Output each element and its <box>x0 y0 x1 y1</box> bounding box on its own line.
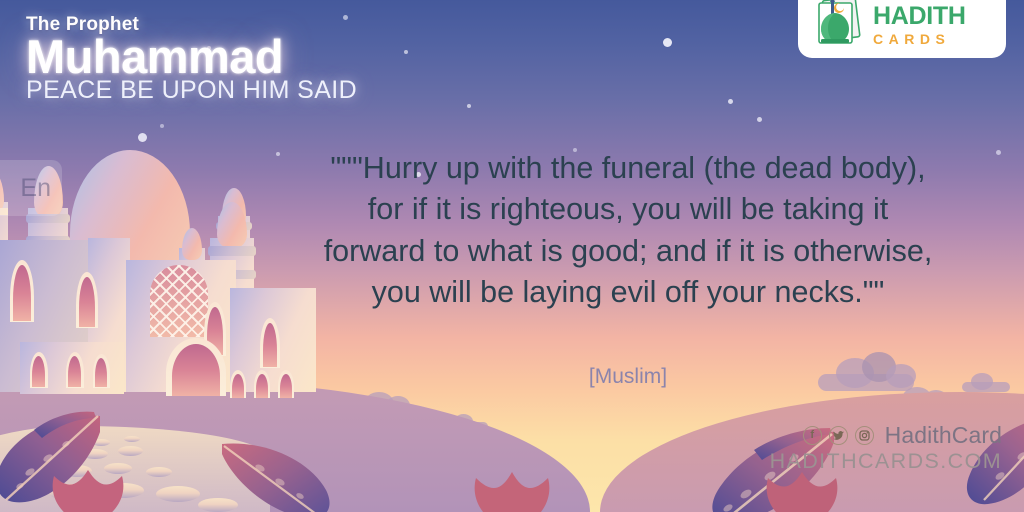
twitter-icon[interactable] <box>829 426 848 445</box>
language-badge[interactable]: En <box>0 160 62 216</box>
footer-brand: HadithCard <box>885 422 1002 449</box>
star <box>757 117 762 122</box>
logo-secondary-text: CARDS <box>873 32 966 46</box>
monstera-leaf-center <box>466 470 558 512</box>
quote-line: for if it is righteous, you will be taki… <box>248 189 1008 230</box>
monstera-leaf-mid <box>216 440 340 512</box>
hadith-card: The Prophet Muhammad PEACE BE UPON HIM S… <box>0 0 1024 512</box>
page-title: The Prophet Muhammad PEACE BE UPON HIM S… <box>26 14 446 105</box>
star <box>728 99 733 104</box>
hadith-quote: """Hurry up with the funeral (the dead b… <box>248 148 1008 314</box>
language-badge-label: En <box>20 174 51 203</box>
quote-line: forward to what is good; and if it is ot… <box>248 231 1008 272</box>
hadith-cards-logo[interactable]: HADITH CARDS <box>798 0 1006 58</box>
logo-wordmark: HADITH CARDS <box>873 4 966 48</box>
quote-line: """Hurry up with the funeral (the dead b… <box>248 148 1008 189</box>
mosque-dome-card-icon <box>812 0 866 48</box>
quote-line: you will be laying evil off your necks."… <box>248 272 1008 313</box>
footer-website: HADITHCARDS.COM <box>770 449 1002 474</box>
footer: f HadithCard HADITHCARDS.COM <box>770 422 1002 474</box>
logo-primary-text: HADITH <box>873 4 966 29</box>
star <box>160 124 164 128</box>
star <box>467 104 471 108</box>
instagram-icon[interactable] <box>855 426 874 445</box>
star <box>663 38 672 47</box>
title-name: Muhammad <box>26 34 446 79</box>
frond-right-lower <box>756 470 848 512</box>
facebook-icon[interactable]: f <box>803 426 822 445</box>
hadith-source: [Muslim] <box>248 365 1008 389</box>
frond-left-lower <box>42 464 134 512</box>
title-subtitle: PEACE BE UPON HIM SAID <box>26 76 446 105</box>
